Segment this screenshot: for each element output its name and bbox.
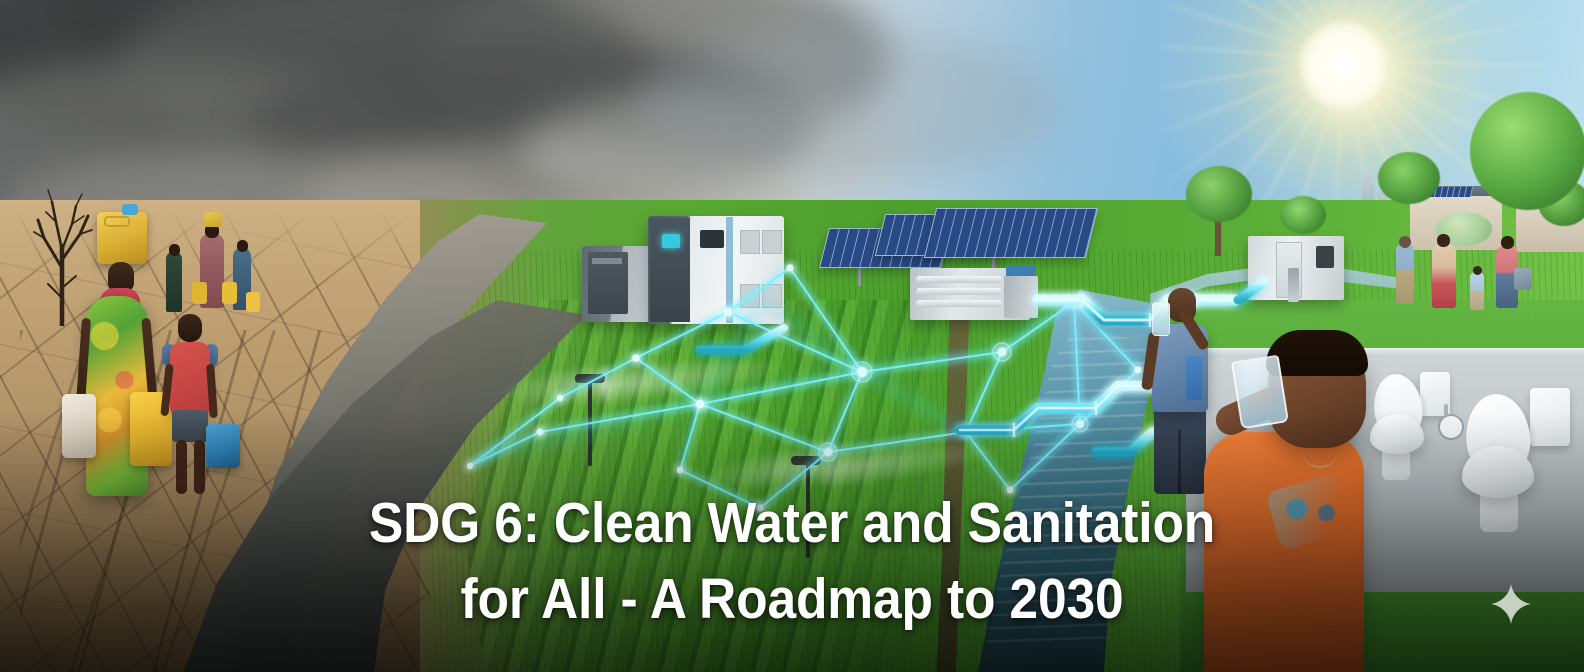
boy-hair <box>1266 330 1368 376</box>
blue-water-container <box>206 424 240 468</box>
tree <box>1280 196 1326 234</box>
jerrycan-cap <box>122 204 138 215</box>
cabinet-accent-stripe <box>726 217 733 323</box>
wall-cap <box>1186 348 1584 356</box>
irrigation-sprinkler-pole <box>588 380 592 466</box>
cabinet-vent <box>592 258 622 264</box>
distant-figure <box>166 252 182 312</box>
distant-figure-head <box>169 244 180 256</box>
irrigation-sprinkler-head <box>791 456 821 465</box>
cabinet-vent-panel <box>740 230 760 254</box>
toilet-paper-roll-icon <box>1438 414 1464 440</box>
family-member-child <box>1470 272 1484 310</box>
toilet-bowl <box>1370 414 1424 454</box>
glass-of-clean-water <box>1231 355 1289 430</box>
shoulder-bag <box>1514 268 1532 290</box>
leg-separation <box>1178 430 1181 494</box>
white-water-jug <box>62 394 96 458</box>
distant-figure-head <box>237 240 248 252</box>
boy-leg <box>194 440 205 494</box>
tree <box>1470 92 1584 210</box>
station-control-panel <box>1316 246 1334 268</box>
membrane-tube <box>916 300 1002 307</box>
tree <box>1186 166 1252 222</box>
boy-in-red-shirt <box>170 342 210 414</box>
control-panel <box>700 230 724 248</box>
membrane-tube <box>916 288 1002 295</box>
family-member-head <box>1501 236 1514 249</box>
family-member-head <box>1473 266 1482 275</box>
boy-in-orange-shirt <box>1204 432 1364 672</box>
blue-folder <box>1186 356 1202 400</box>
family-member-man <box>1396 244 1414 304</box>
cabinet-vent-panel <box>762 230 782 254</box>
boy-leg <box>176 440 187 494</box>
jerrycan-on-head <box>204 212 222 227</box>
water-bottle <box>1152 302 1170 336</box>
yellow-jerrycan <box>246 292 260 312</box>
haze-cloud <box>640 30 1060 180</box>
sparkle-icon <box>1489 582 1533 626</box>
tree <box>1378 152 1440 204</box>
boy-head <box>178 314 202 342</box>
dead-tree <box>28 176 98 326</box>
sun-icon <box>1300 22 1386 108</box>
toilet-cistern <box>1530 388 1570 446</box>
family-member-woman <box>1432 244 1456 308</box>
boy-shorts <box>172 410 208 442</box>
sdg6-banner-image: SDG 6: Clean Water and Sanitation for Al… <box>0 0 1584 672</box>
cabinet-vent-panel <box>740 284 760 308</box>
jerrycan-handle <box>104 216 130 227</box>
station-column <box>1288 268 1299 302</box>
yellow-jerrycan <box>192 282 207 304</box>
control-screen <box>662 234 680 248</box>
family-member-head <box>1437 234 1450 247</box>
cabinet-vent-panel <box>762 284 782 308</box>
yellow-jerrycan <box>222 282 237 304</box>
membrane-tube <box>916 276 1002 283</box>
irrigation-sprinkler-pole <box>806 462 810 558</box>
pump-housing <box>1004 276 1038 318</box>
solar-panel-array <box>924 208 1098 258</box>
family-member-head <box>1399 236 1411 248</box>
irrigation-sprinkler-head <box>575 374 605 383</box>
